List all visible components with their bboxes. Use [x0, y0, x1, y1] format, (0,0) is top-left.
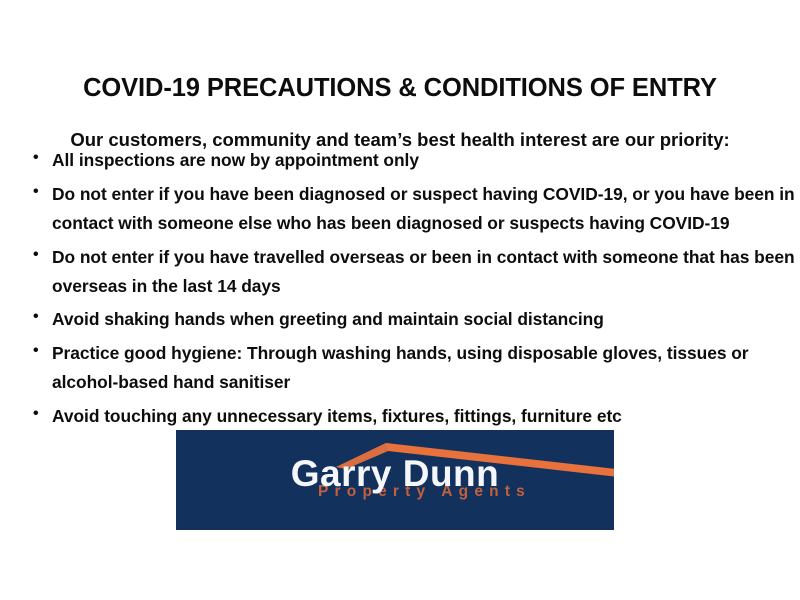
- list-item: Avoid touching any unnecessary items, fi…: [30, 402, 782, 431]
- list-item: All inspections are now by appointment o…: [30, 146, 782, 175]
- page-title: COVID-19 PRECAUTIONS & CONDITIONS OF ENT…: [0, 74, 800, 102]
- precautions-list: All inspections are now by appointment o…: [30, 146, 782, 436]
- list-item: Do not enter if you have been diagnosed …: [30, 180, 800, 238]
- list-item: Do not enter if you have travelled overs…: [30, 243, 800, 301]
- logo-wordmark: Garry Dunn: [176, 455, 614, 494]
- company-logo: Property Agents Garry Dunn: [176, 430, 614, 530]
- list-item: Avoid shaking hands when greeting and ma…: [30, 305, 782, 334]
- list-item: Practice good hygiene: Through washing h…: [30, 339, 800, 397]
- notice-page: COVID-19 PRECAUTIONS & CONDITIONS OF ENT…: [0, 0, 800, 600]
